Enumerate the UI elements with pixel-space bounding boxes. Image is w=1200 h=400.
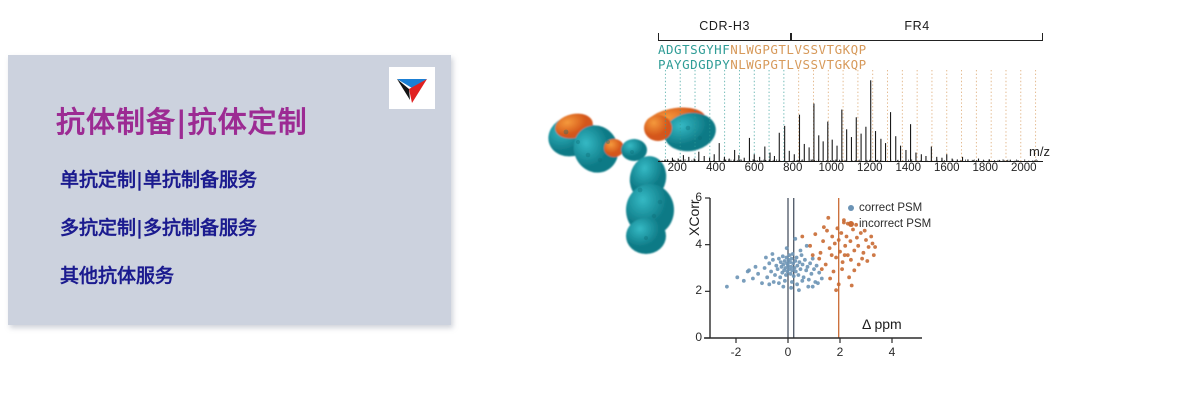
scatter-point (799, 267, 803, 271)
scatter-point (797, 288, 801, 292)
scatter-point (813, 232, 817, 236)
scatter-point (807, 278, 811, 282)
scatter-y-tick-label-0: 0 (688, 330, 702, 344)
mz-tick-1200: 1200 (857, 162, 883, 174)
scatter-point (800, 235, 804, 239)
scatter-point (771, 252, 775, 256)
scatter-point (845, 235, 849, 239)
legend-label-incorrect-psm: incorrect PSM (859, 218, 931, 230)
scatter-point (735, 275, 739, 279)
scatter-point (803, 258, 807, 262)
antibody-services-promo-card: 抗体制备|抗体定制 单抗定制|单抗制备服务 多抗定制|多抗制备服务 其他抗体服务 (8, 55, 451, 325)
legend-item-correct-psm: correct PSM (848, 200, 931, 215)
mass-spectrum-svg (658, 70, 1043, 162)
scatter-point (767, 282, 771, 286)
scatter-point (839, 231, 843, 235)
scatter-point (834, 288, 838, 292)
scatter-point (790, 257, 794, 261)
scatter-point (800, 279, 804, 283)
scatter-point (800, 253, 804, 257)
scatter-point (867, 245, 871, 249)
scatter-point (771, 258, 775, 262)
sequence-cdr-row-0: ADGTSGYHF (658, 42, 730, 57)
scatter-point (746, 270, 750, 274)
promo-link-mab-service[interactable]: 单抗定制|单抗制备服务 (60, 165, 257, 192)
scatter-point (837, 238, 841, 242)
legend-dot-correct-psm (848, 205, 854, 211)
scatter-point (793, 259, 797, 263)
scatter-point (862, 251, 866, 255)
scatter-point (777, 281, 781, 285)
scatter-point (857, 263, 861, 267)
scatter-point (828, 277, 832, 281)
scatter-point (804, 268, 808, 272)
scatter-point (817, 257, 821, 261)
scatter-x-tick-label-2: 2 (837, 345, 844, 359)
scatter-point (784, 273, 788, 277)
scatter-y-axis-label: XCorr (686, 199, 702, 236)
scatter-point (765, 275, 769, 279)
scatter-point (822, 225, 826, 229)
mz-axis-label: m/z (1029, 144, 1050, 159)
scatter-point (852, 268, 856, 272)
scatter-point (794, 270, 798, 274)
mz-tick-800: 800 (783, 162, 802, 174)
scatter-point (824, 263, 828, 267)
region-annotation-bar: CDR-H3FR4 (658, 22, 1043, 42)
scatter-point (797, 273, 801, 277)
scatter-point (817, 271, 821, 275)
scatter-point (781, 263, 785, 267)
scatter-point (810, 272, 814, 276)
scatter-x-axis-label: Δ ppm (862, 316, 902, 332)
scatter-point (843, 244, 847, 248)
legend-label-correct-psm: correct PSM (859, 202, 922, 214)
scatter-point (802, 275, 806, 279)
scatter-point (828, 246, 832, 250)
scatter-point (850, 284, 854, 288)
scatter-point (849, 239, 853, 243)
mass-spectrum-x-axis: m/z 200400600800100012001400160018002000 (648, 162, 1048, 182)
mz-tick-1400: 1400 (895, 162, 921, 174)
scatter-point (776, 267, 780, 271)
scatter-point (872, 253, 876, 257)
scatter-point (789, 286, 793, 290)
scatter-point (847, 275, 851, 279)
scatter-point (834, 256, 838, 260)
scatter-point (832, 270, 836, 274)
scatter-legend: correct PSM incorrect PSM (848, 200, 931, 232)
scatter-point (825, 229, 829, 233)
scatter-point (837, 282, 841, 286)
scatter-x-tick-label--2: -2 (731, 345, 742, 359)
scatter-point (840, 267, 844, 271)
sequence-row: ADGTSGYHFNLWGPGTLVSSVTGKQP (658, 42, 1043, 57)
mz-tick-200: 200 (668, 162, 687, 174)
scatter-point (756, 272, 760, 276)
scatter-point (841, 260, 845, 264)
scatter-y-tick-label-6: 6 (688, 190, 702, 204)
scatter-point (774, 264, 778, 268)
promo-link-pab-service[interactable]: 多抗定制|多抗制备服务 (60, 213, 257, 240)
scatter-point (760, 281, 764, 285)
scatter-point (820, 267, 824, 271)
scatter-point (871, 242, 875, 246)
mz-tick-2000: 2000 (1011, 162, 1037, 174)
scatter-point (811, 257, 815, 261)
scatter-point (781, 285, 785, 289)
scatter-point (791, 252, 795, 256)
scatter-point (767, 261, 771, 265)
scatter-point (793, 237, 797, 241)
scatter-point (795, 282, 799, 286)
scatter-point (751, 277, 755, 281)
scatter-point (785, 246, 789, 250)
scatter-point (869, 235, 873, 239)
mz-tick-400: 400 (706, 162, 725, 174)
scatter-point (816, 281, 820, 285)
scatter-point (778, 275, 782, 279)
scatter-point (806, 265, 810, 269)
mass-spectrum-plot (658, 70, 1043, 162)
scatter-point (819, 251, 823, 255)
scatter-x-tick-label-0: 0 (785, 345, 792, 359)
region-label-fr4: FR4 (904, 19, 929, 33)
scatter-point (820, 277, 824, 281)
sequence-fr-row-0: NLWGPGTLVSSVTGKQP (730, 42, 866, 57)
region-span-fr4 (791, 33, 1043, 41)
scatter-point (830, 253, 834, 257)
scatter-point (806, 285, 810, 289)
scatter-point (849, 258, 853, 262)
scatter-point (769, 270, 773, 274)
mz-tick-1600: 1600 (934, 162, 960, 174)
scatter-point (808, 261, 812, 265)
scatter-point (843, 253, 847, 257)
scatter-point (777, 257, 781, 261)
scatter-point (789, 272, 793, 276)
legend-dot-incorrect-psm (848, 221, 854, 227)
peptide-sequence-block: CDR-H3FR4 ADGTSGYHFNLWGPGTLVSSVTGKQP PAY… (658, 22, 1043, 72)
scatter-point (781, 254, 785, 258)
scatter-y-tick-label-4: 4 (688, 237, 702, 251)
scatter-point (873, 245, 877, 249)
mz-tick-1000: 1000 (818, 162, 844, 174)
scatter-point (842, 218, 846, 222)
region-span-cdr-h3 (658, 33, 791, 41)
scatter-point (826, 216, 830, 220)
scatter-point (830, 235, 834, 239)
scatter-point (742, 279, 746, 283)
scatter-point (808, 244, 812, 248)
company-arrow-logo (389, 67, 435, 109)
scatter-point (836, 226, 840, 230)
scatter-point (856, 244, 860, 248)
scatter-point (763, 266, 767, 270)
xcorr-vs-ppm-scatter: XCorr Δ ppm correct PSM incorrect PSM 02… (670, 190, 930, 370)
scatter-point (811, 253, 815, 257)
scatter-point (795, 264, 799, 268)
scatter-point (864, 238, 868, 242)
scatter-y-tick-label-2: 2 (688, 283, 702, 297)
mz-tick-600: 600 (745, 162, 764, 174)
region-label-cdr-h3: CDR-H3 (699, 19, 750, 33)
scatter-x-tick-label-4: 4 (889, 345, 896, 359)
scatter-point (801, 263, 805, 267)
scatter-point (838, 250, 842, 254)
promo-link-other-antibody-service[interactable]: 其他抗体服务 (60, 261, 174, 288)
scatter-point (764, 256, 768, 260)
scatter-point (852, 249, 856, 253)
scatter-point (798, 260, 802, 264)
scatter-point (799, 249, 803, 253)
mz-tick-1800: 1800 (972, 162, 998, 174)
scatter-point (772, 280, 776, 284)
page-title: 抗体制备|抗体定制 (56, 99, 308, 141)
legend-item-incorrect-psm: incorrect PSM (848, 216, 931, 231)
scatter-point (795, 256, 799, 260)
scatter-point (811, 285, 815, 289)
scatter-point (821, 239, 825, 243)
scatter-point (773, 273, 777, 277)
scatter-point (833, 242, 837, 246)
scatter-point (805, 244, 809, 248)
scatter-point (865, 259, 869, 263)
scatter-point (754, 265, 758, 269)
scatter-point (855, 236, 859, 240)
scatter-point (789, 265, 793, 269)
scatter-point (725, 285, 729, 289)
scatter-point (812, 267, 816, 271)
scatter-point (783, 279, 787, 283)
scatter-point (790, 280, 794, 284)
scatter-point (792, 274, 796, 278)
scatter-point (860, 257, 864, 261)
antibody-sequencing-figure: CDR-H3FR4 ADGTSGYHFNLWGPGTLVSSVTGKQP PAY… (520, 8, 1080, 376)
scatter-point (815, 264, 819, 268)
